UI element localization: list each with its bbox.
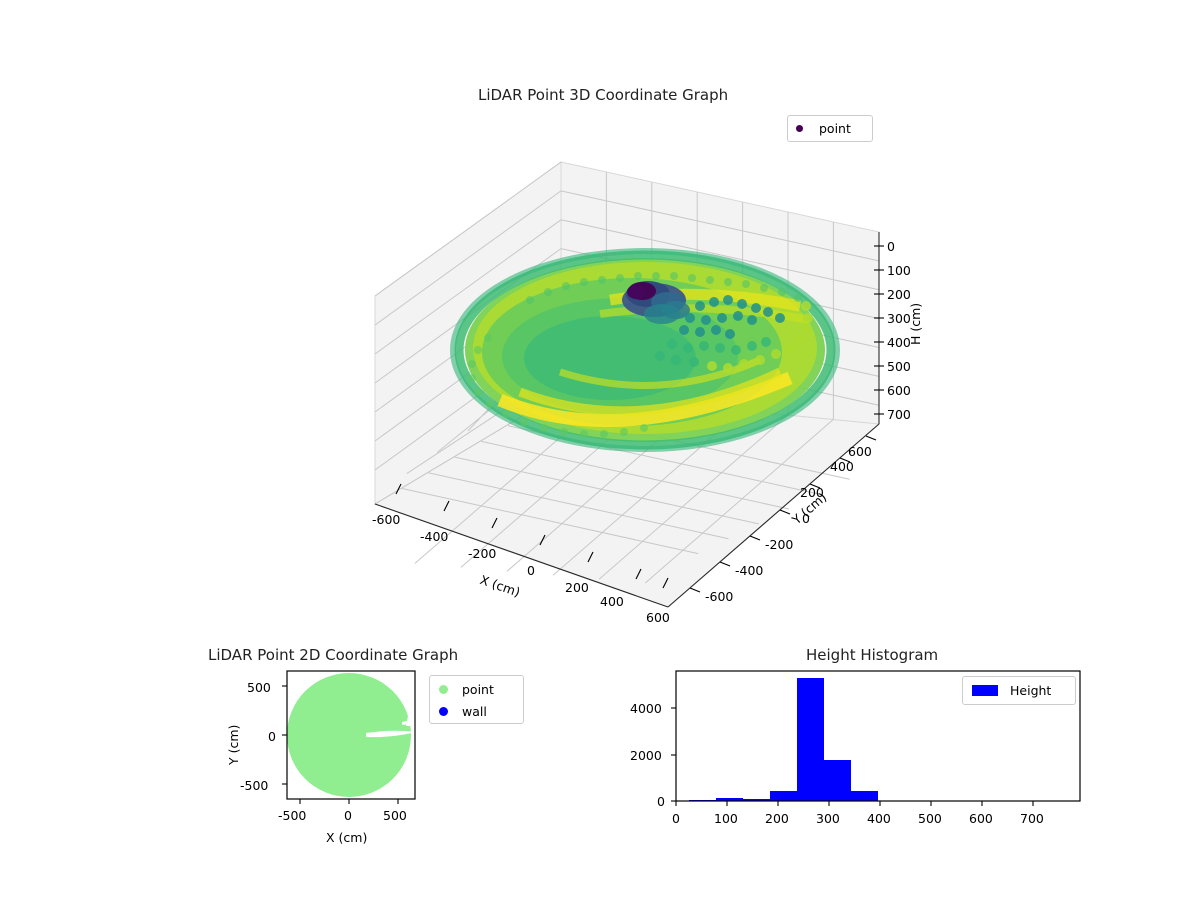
- plot3d-canvas: [0, 0, 1200, 640]
- histogram-xtick-4: 400: [867, 811, 891, 826]
- point-marker-icon: [439, 685, 448, 694]
- legend-label-point: point: [462, 682, 494, 697]
- plot2d-xtick-1: 0: [344, 808, 352, 823]
- plot3d-ztick-1: 100: [887, 263, 911, 278]
- matplotlib-figure: LiDAR Point 3D Coordinate Graph point: [0, 0, 1200, 900]
- histogram-ytick-2: 4000: [630, 701, 662, 716]
- plot2d-xtick-2: 500: [383, 808, 407, 823]
- legend-label-wall: wall: [462, 704, 487, 719]
- plot3d-ytick-0: -600: [705, 589, 733, 604]
- plot3d-xtick-0: -600: [372, 512, 400, 527]
- plot3d-xtick-3: 0: [527, 563, 535, 578]
- histogram-xtick-7: 700: [1020, 811, 1044, 826]
- plot2d-xaxis-label: X (cm): [326, 830, 367, 845]
- plot3d-ytick-6: 600: [848, 444, 872, 459]
- plot3d-ytick-5: 400: [830, 459, 854, 474]
- histogram-ytick-0: 0: [657, 794, 665, 809]
- histogram-canvas: [600, 630, 1200, 900]
- panel-histogram: Height Histogram: [600, 630, 1200, 900]
- plot2d-xtick-0: -500: [278, 808, 306, 823]
- plot3d-ytick-1: -400: [735, 563, 763, 578]
- panel-3d-scatter: LiDAR Point 3D Coordinate Graph point: [0, 0, 1200, 640]
- wall-marker-icon: [439, 707, 448, 716]
- histogram-xtick-0: 0: [672, 811, 680, 826]
- legend-label-height: Height: [1010, 683, 1051, 698]
- plot2d-ytick-0: 500: [247, 680, 271, 695]
- histogram-xtick-2: 200: [765, 811, 789, 826]
- plot2d-canvas: [0, 630, 560, 900]
- histogram-xtick-3: 300: [816, 811, 840, 826]
- plot3d-ztick-6: 600: [887, 383, 911, 398]
- legend-item-height: Height: [963, 677, 1075, 704]
- legend-item-wall: wall: [430, 701, 523, 721]
- histogram-xtick-1: 100: [714, 811, 738, 826]
- plot3d-xtick-4: 200: [565, 580, 589, 595]
- histogram-legend: Height: [962, 676, 1076, 705]
- plot3d-xtick-6: 600: [646, 610, 670, 625]
- plot2d-yaxis-label: Y (cm): [226, 725, 241, 765]
- plot3d-points: [453, 251, 837, 449]
- plot3d-xtick-1: -400: [420, 529, 448, 544]
- plot3d-xtick-2: -200: [468, 546, 496, 561]
- plot3d-ytick-2: -200: [765, 537, 793, 552]
- histogram-xtick-6: 600: [969, 811, 993, 826]
- panel-2d-scatter: LiDAR Point 2D Coordinate Graph 500: [0, 630, 560, 900]
- legend-item-point: point: [430, 678, 523, 701]
- plot2d-ytick-1: 0: [268, 729, 276, 744]
- height-patch-icon: [972, 685, 998, 696]
- plot3d-ztick-5: 500: [887, 359, 911, 374]
- plot3d-xtick-5: 400: [600, 594, 624, 609]
- plot3d-ztick-2: 200: [887, 287, 911, 302]
- histogram-xtick-5: 500: [918, 811, 942, 826]
- plot3d-ztick-7: 700: [887, 407, 911, 422]
- plot3d-zaxis-label: H (cm): [908, 303, 923, 345]
- plot2d-legend: point wall: [429, 675, 524, 724]
- histogram-ytick-1: 2000: [630, 748, 662, 763]
- plot2d-ytick-2: -500: [240, 778, 268, 793]
- plot3d-ztick-0: 0: [887, 239, 895, 254]
